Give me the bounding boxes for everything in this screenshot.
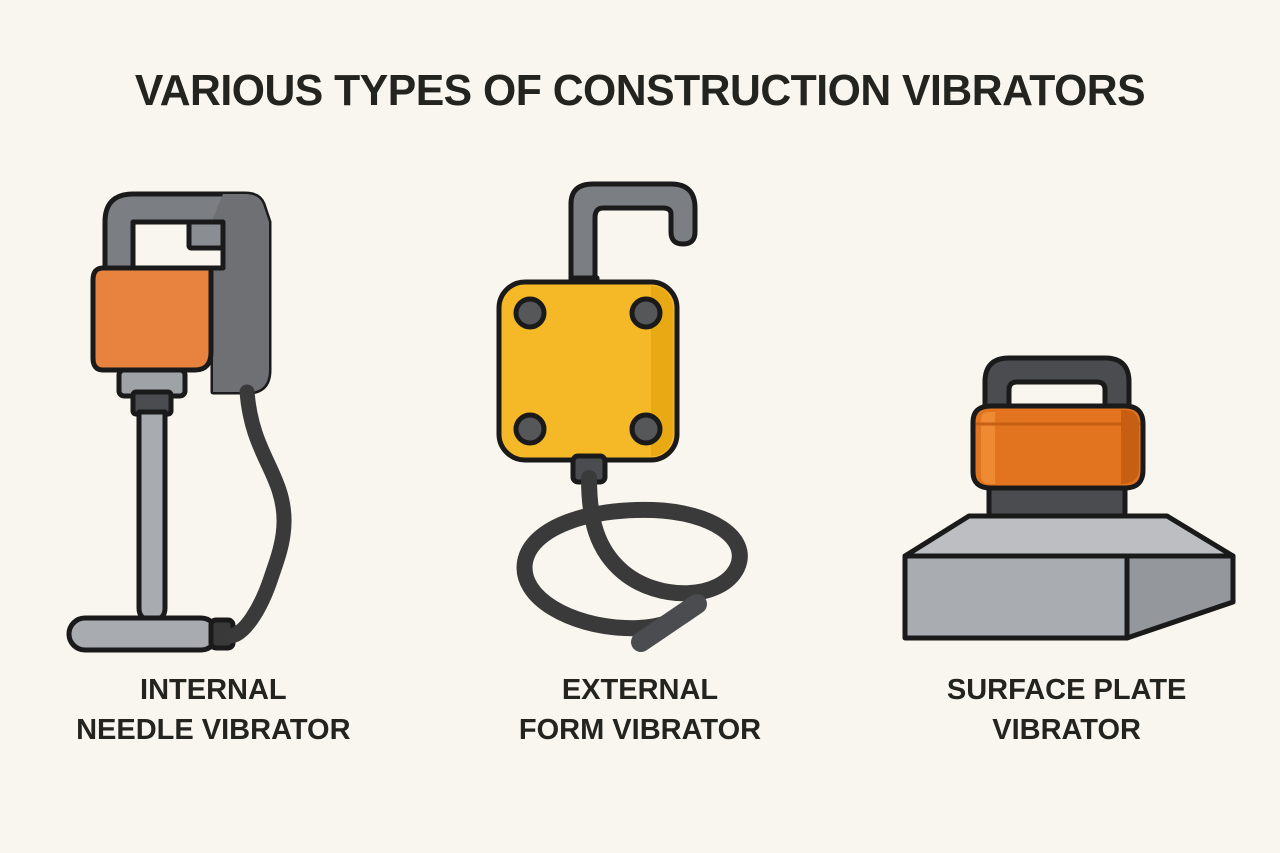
label-surface-plate-vibrator: SURFACE PLATE VIBRATOR [947, 670, 1187, 750]
mounting-bolt-bottom-right [632, 415, 660, 443]
mounting-bolt-top-left [516, 299, 544, 327]
label-line-2: FORM VIBRATOR [519, 710, 761, 750]
vibrator-types-row: INTERNAL NEEDLE VIBRATOR [0, 150, 1280, 790]
mounting-bolt-top-right [632, 299, 660, 327]
item-internal-needle-vibrator: INTERNAL NEEDLE VIBRATOR [13, 150, 413, 790]
label-line-1: SURFACE PLATE [947, 674, 1187, 706]
label-internal-needle-vibrator: INTERNAL NEEDLE VIBRATOR [76, 670, 350, 750]
orange-motor-box-shadow [1121, 410, 1139, 484]
power-cable-outline [231, 392, 284, 636]
label-line-1: INTERNAL [140, 674, 287, 706]
infographic-poster: VARIOUS TYPES OF CONSTRUCTION VIBRATORS [0, 0, 1280, 853]
label-line-2: VIBRATOR [947, 710, 1187, 750]
mounting-bolt-bottom-left [516, 415, 544, 443]
carry-handle[interactable] [985, 358, 1129, 408]
label-external-form-vibrator: EXTERNAL FORM VIBRATOR [519, 670, 761, 750]
internal-needle-vibrator-icon [63, 160, 363, 660]
label-line-1: EXTERNAL [562, 674, 718, 706]
trigger-switch[interactable] [189, 222, 223, 248]
plate-side-face [1127, 556, 1233, 638]
label-line-2: NEEDLE VIBRATOR [76, 710, 350, 750]
page-title: VARIOUS TYPES OF CONSTRUCTION VIBRATORS [19, 66, 1261, 116]
plate-top-face [905, 516, 1233, 556]
plate-front-face [905, 556, 1127, 638]
orange-body [93, 268, 211, 370]
figure-surface-plate-vibrator [867, 150, 1267, 660]
figure-internal-needle-vibrator [13, 150, 413, 660]
flexible-shaft [139, 412, 165, 620]
item-external-form-vibrator: EXTERNAL FORM VIBRATOR [440, 150, 840, 790]
surface-plate-vibrator-icon [877, 240, 1257, 660]
needle-head [69, 618, 217, 650]
cable-loop [525, 478, 740, 628]
figure-external-form-vibrator [440, 150, 840, 660]
orange-motor-box [973, 406, 1143, 488]
hook-handle[interactable] [571, 184, 695, 290]
item-surface-plate-vibrator: SURFACE PLATE VIBRATOR [867, 150, 1267, 790]
external-form-vibrator-icon [475, 160, 805, 660]
